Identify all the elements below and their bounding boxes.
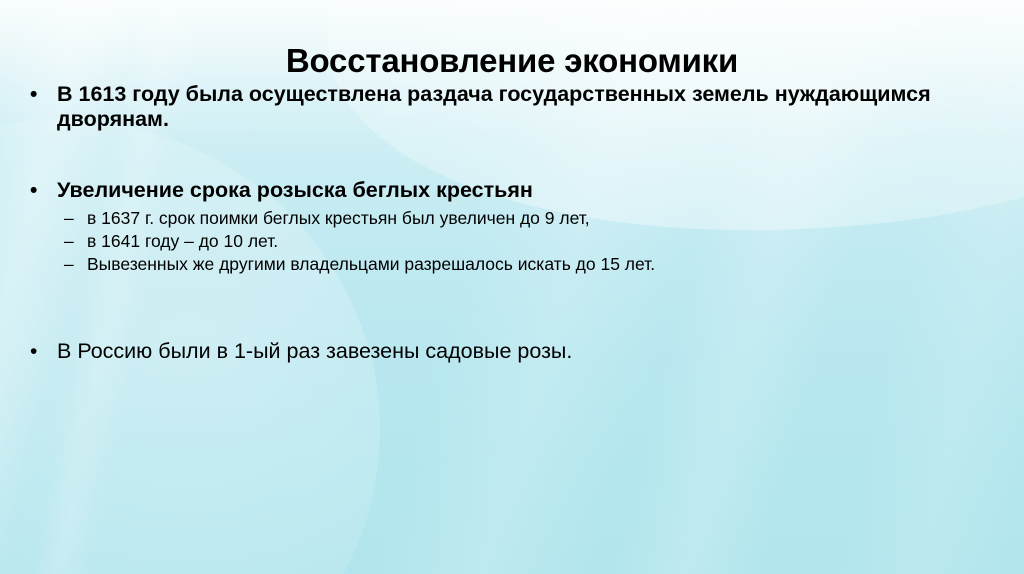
bullet-item-1-text: В 1613 году была осуществлена раздача го… bbox=[57, 82, 931, 131]
dash-marker-icon: – bbox=[64, 207, 82, 230]
slide-title: Восстановление экономики bbox=[0, 43, 1024, 79]
sub-bullet-list: – в 1637 г. срок поимки беглых крестьян … bbox=[0, 207, 1024, 276]
dash-marker-icon: – bbox=[64, 230, 82, 253]
bullet-marker-icon: • bbox=[30, 82, 46, 107]
bullet-item-1: • В 1613 году была осуществлена раздача … bbox=[0, 82, 1024, 132]
slide-canvas: Восстановление экономики • В 1613 году б… bbox=[0, 0, 1024, 574]
sub-bullet-item-1: – в 1637 г. срок поимки беглых крестьян … bbox=[0, 207, 1024, 230]
bullet-item-2-text: Увеличение срока розыска беглых крестьян bbox=[57, 178, 533, 202]
spacer-3 bbox=[0, 322, 1024, 339]
bullet-marker-icon: • bbox=[30, 178, 46, 203]
spacer-2 bbox=[0, 276, 1024, 322]
bullet-item-3: • В Россию были в 1-ый раз завезены садо… bbox=[0, 339, 1024, 364]
slide-body: • В 1613 году была осуществлена раздача … bbox=[0, 82, 1024, 364]
bullet-marker-icon: • bbox=[30, 339, 46, 364]
spacer-1 bbox=[0, 132, 1024, 178]
slide-content: Восстановление экономики • В 1613 году б… bbox=[0, 0, 1024, 574]
bullet-item-2: • Увеличение срока розыска беглых кресть… bbox=[0, 178, 1024, 203]
bullet-item-3-text: В Россию были в 1-ый раз завезены садовы… bbox=[57, 339, 572, 363]
sub-bullet-item-2: – в 1641 году – до 10 лет. bbox=[0, 230, 1024, 253]
sub-bullet-item-1-text: в 1637 г. срок поимки беглых крестьян бы… bbox=[87, 208, 590, 228]
dash-marker-icon: – bbox=[64, 253, 82, 276]
sub-bullet-item-2-text: в 1641 году – до 10 лет. bbox=[87, 231, 278, 251]
sub-bullet-item-3-text: Вывезенных же другими владельцами разреш… bbox=[87, 254, 655, 274]
sub-bullet-item-3: – Вывезенных же другими владельцами разр… bbox=[0, 253, 1024, 276]
